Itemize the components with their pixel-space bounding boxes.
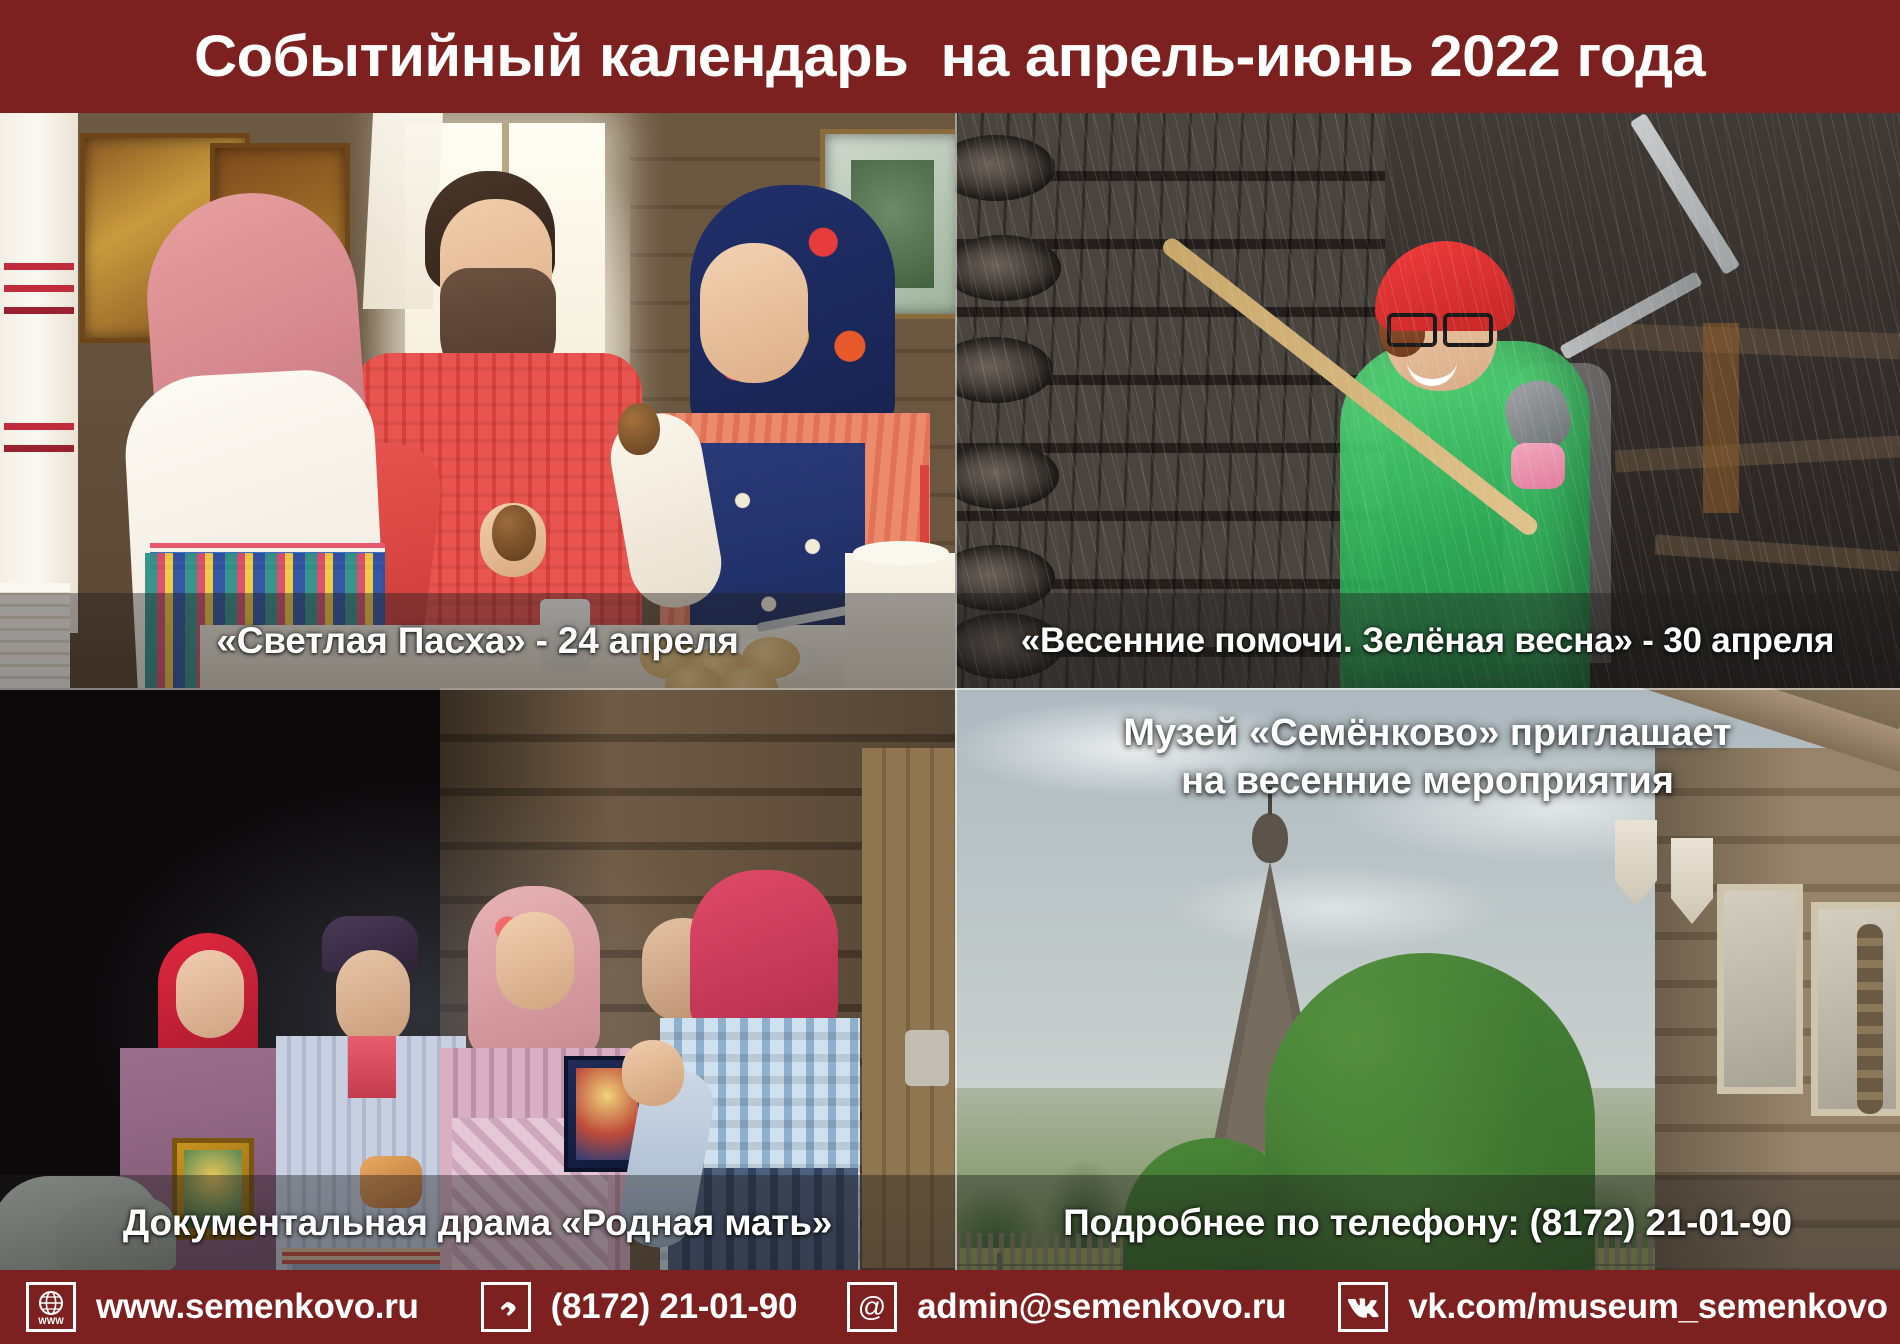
person-hand [622, 1040, 684, 1106]
photo-grid: ХВ «Светлая Пасха» - 24 апреля [0, 113, 1900, 1270]
person-headscarf [690, 870, 838, 1030]
event-card-drama[interactable]: Документальная драма «Родная мать» [0, 688, 955, 1270]
embroidered-towel [0, 583, 70, 688]
cloth-sack [56, 1198, 176, 1270]
globe-www-icon: WWW [26, 1282, 76, 1332]
event-card-spring-helpers[interactable]: «Весенние помочи. Зелёная весна» - 30 ап… [955, 113, 1900, 688]
house-window [1717, 884, 1803, 1094]
poster: Событийный календарь на апрель-июнь 2022… [0, 0, 1900, 1344]
bread-loaf [360, 1156, 422, 1208]
embroidered-towel [0, 113, 78, 633]
grid-divider-vertical [955, 113, 957, 1270]
grid-divider-horizontal [0, 688, 1900, 690]
utility-pole [997, 1253, 1002, 1270]
event-card-museum[interactable]: Музей «Семёнково» приглашает на весенние… [955, 688, 1900, 1270]
footer-website[interactable]: WWW www.semenkovo.ru [26, 1282, 419, 1332]
museum-photo [955, 688, 1900, 1270]
header-bar: Событийный календарь на апрель-июнь 2022… [0, 0, 1900, 113]
footer-vk[interactable]: vk.com/museum_semenkovo [1338, 1282, 1887, 1332]
footer-website-text[interactable]: www.semenkovo.ru [96, 1287, 419, 1327]
orthodox-icon [172, 1138, 254, 1240]
house-window [1811, 902, 1900, 1116]
person-face [496, 912, 574, 1010]
footer-phone[interactable]: (8172) 21-01-90 [481, 1282, 798, 1332]
person-face [176, 950, 244, 1038]
footer-vk-text[interactable]: vk.com/museum_semenkovo [1408, 1287, 1887, 1327]
kulich-cake: ХВ [845, 553, 955, 688]
svg-text:@: @ [858, 1291, 886, 1322]
easter-egg [492, 505, 536, 561]
drama-photo [0, 688, 955, 1270]
easter-photo: ХВ [0, 113, 955, 688]
person-belt [282, 1248, 464, 1264]
person-face [336, 950, 410, 1046]
svg-text:WWW: WWW [38, 1316, 64, 1326]
vk-icon [1338, 1282, 1388, 1332]
shirt-collar [348, 1036, 396, 1098]
onion-dome [1252, 813, 1288, 863]
footer-bar: WWW www.semenkovo.ru (8172) 21-01-90 @ a… [0, 1270, 1900, 1344]
cup [540, 599, 590, 671]
phone-icon [481, 1282, 531, 1332]
spring-helpers-photo [955, 113, 1900, 688]
footer-email-text[interactable]: admin@semenkovo.ru [917, 1287, 1286, 1327]
rain-overlay [955, 113, 1900, 688]
easter-egg [618, 403, 660, 455]
event-card-easter[interactable]: ХВ «Светлая Пасха» - 24 апреля [0, 113, 955, 688]
page-title: Событийный календарь на апрель-июнь 2022… [194, 28, 1705, 86]
footer-email[interactable]: @ admin@semenkovo.ru [847, 1282, 1286, 1332]
footer-phone-text[interactable]: (8172) 21-01-90 [551, 1287, 798, 1327]
email-at-icon: @ [847, 1282, 897, 1332]
person-face [700, 243, 808, 383]
carved-column [1857, 924, 1883, 1114]
